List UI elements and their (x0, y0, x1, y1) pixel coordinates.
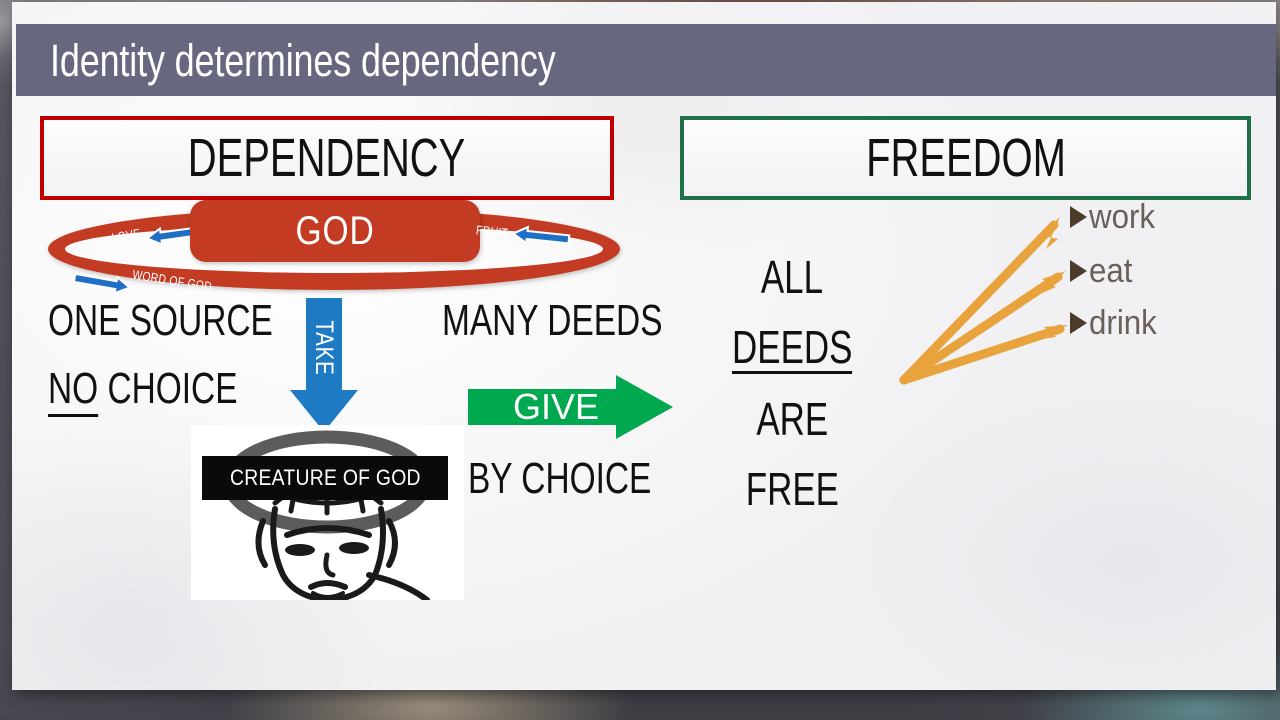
by-choice-text: BY CHOICE (468, 457, 709, 501)
creature-of-god-banner: CREATURE OF GOD (202, 456, 448, 500)
all-deeds-line-3: ARE (712, 396, 872, 442)
word-of-god-arrow-icon (73, 270, 131, 295)
freedom-list-item-drink[interactable]: drink (1070, 306, 1163, 340)
dependency-header-box: DEPENDENCY (40, 116, 614, 200)
freedom-list-item-eat[interactable]: eat (1070, 254, 1136, 288)
many-deeds-text: MANY DEEDS (442, 299, 732, 343)
triangle-bullet-icon (1070, 260, 1087, 282)
slide-title-bar: Identity determines dependency (16, 24, 1276, 96)
freedom-header-label: FREEDOM (866, 131, 1066, 185)
all-deeds-line-1: ALL (712, 254, 872, 300)
triangle-bullet-icon (1070, 206, 1087, 228)
slide-viewer: Identity determines dependency DEPENDENC… (0, 0, 1280, 720)
many-deeds-label: MANY DEEDS (442, 299, 663, 343)
face-line-art-icon (191, 425, 464, 600)
choice-rest: CHOICE (98, 364, 237, 413)
god-center-box: GOD (190, 200, 480, 262)
creature-of-god-image: CREATURE OF GOD (191, 425, 464, 600)
take-arrow: TAKE (288, 298, 360, 434)
freedom-fan-arrows (882, 187, 1082, 397)
by-choice-label: BY CHOICE (468, 457, 651, 501)
all-deeds-line-2: DEEDS (712, 324, 872, 374)
give-arrow-label: GIVE (468, 375, 644, 439)
freedom-item-label: eat (1089, 254, 1132, 288)
no-choice-inner: NO CHOICE (48, 367, 238, 411)
freedom-item-label: work (1089, 200, 1155, 234)
give-arrow: GIVE (468, 375, 674, 439)
free-label: FREE (745, 466, 838, 512)
dependency-header-label: DEPENDENCY (188, 131, 466, 185)
freedom-item-label: drink (1089, 306, 1157, 340)
all-label: ALL (761, 254, 823, 300)
fruit-arrow-icon (512, 226, 569, 248)
one-source-label: ONE SOURCE (48, 299, 273, 343)
fruit-label: FRUIT (475, 223, 508, 239)
no-choice-text: NO CHOICE (48, 367, 297, 411)
creature-of-god-banner-label: CREATURE OF GOD (230, 467, 421, 489)
deeds-label: DEEDS (732, 324, 852, 374)
all-deeds-line-4: FREE (712, 466, 872, 512)
freedom-list-item-work[interactable]: work (1070, 200, 1161, 234)
no-emphasis: NO (48, 364, 98, 417)
presentation-slide: Identity determines dependency DEPENDENC… (12, 2, 1276, 690)
god-center-label: GOD (295, 211, 374, 251)
triangle-bullet-icon (1070, 312, 1087, 334)
slide-title: Identity determines dependency (50, 38, 556, 83)
are-label: ARE (756, 396, 828, 442)
take-arrow-label: TAKE (274, 318, 374, 377)
god-cycle-diagram: GOD LOVE FRUIT WORD OF GOD (40, 200, 630, 300)
